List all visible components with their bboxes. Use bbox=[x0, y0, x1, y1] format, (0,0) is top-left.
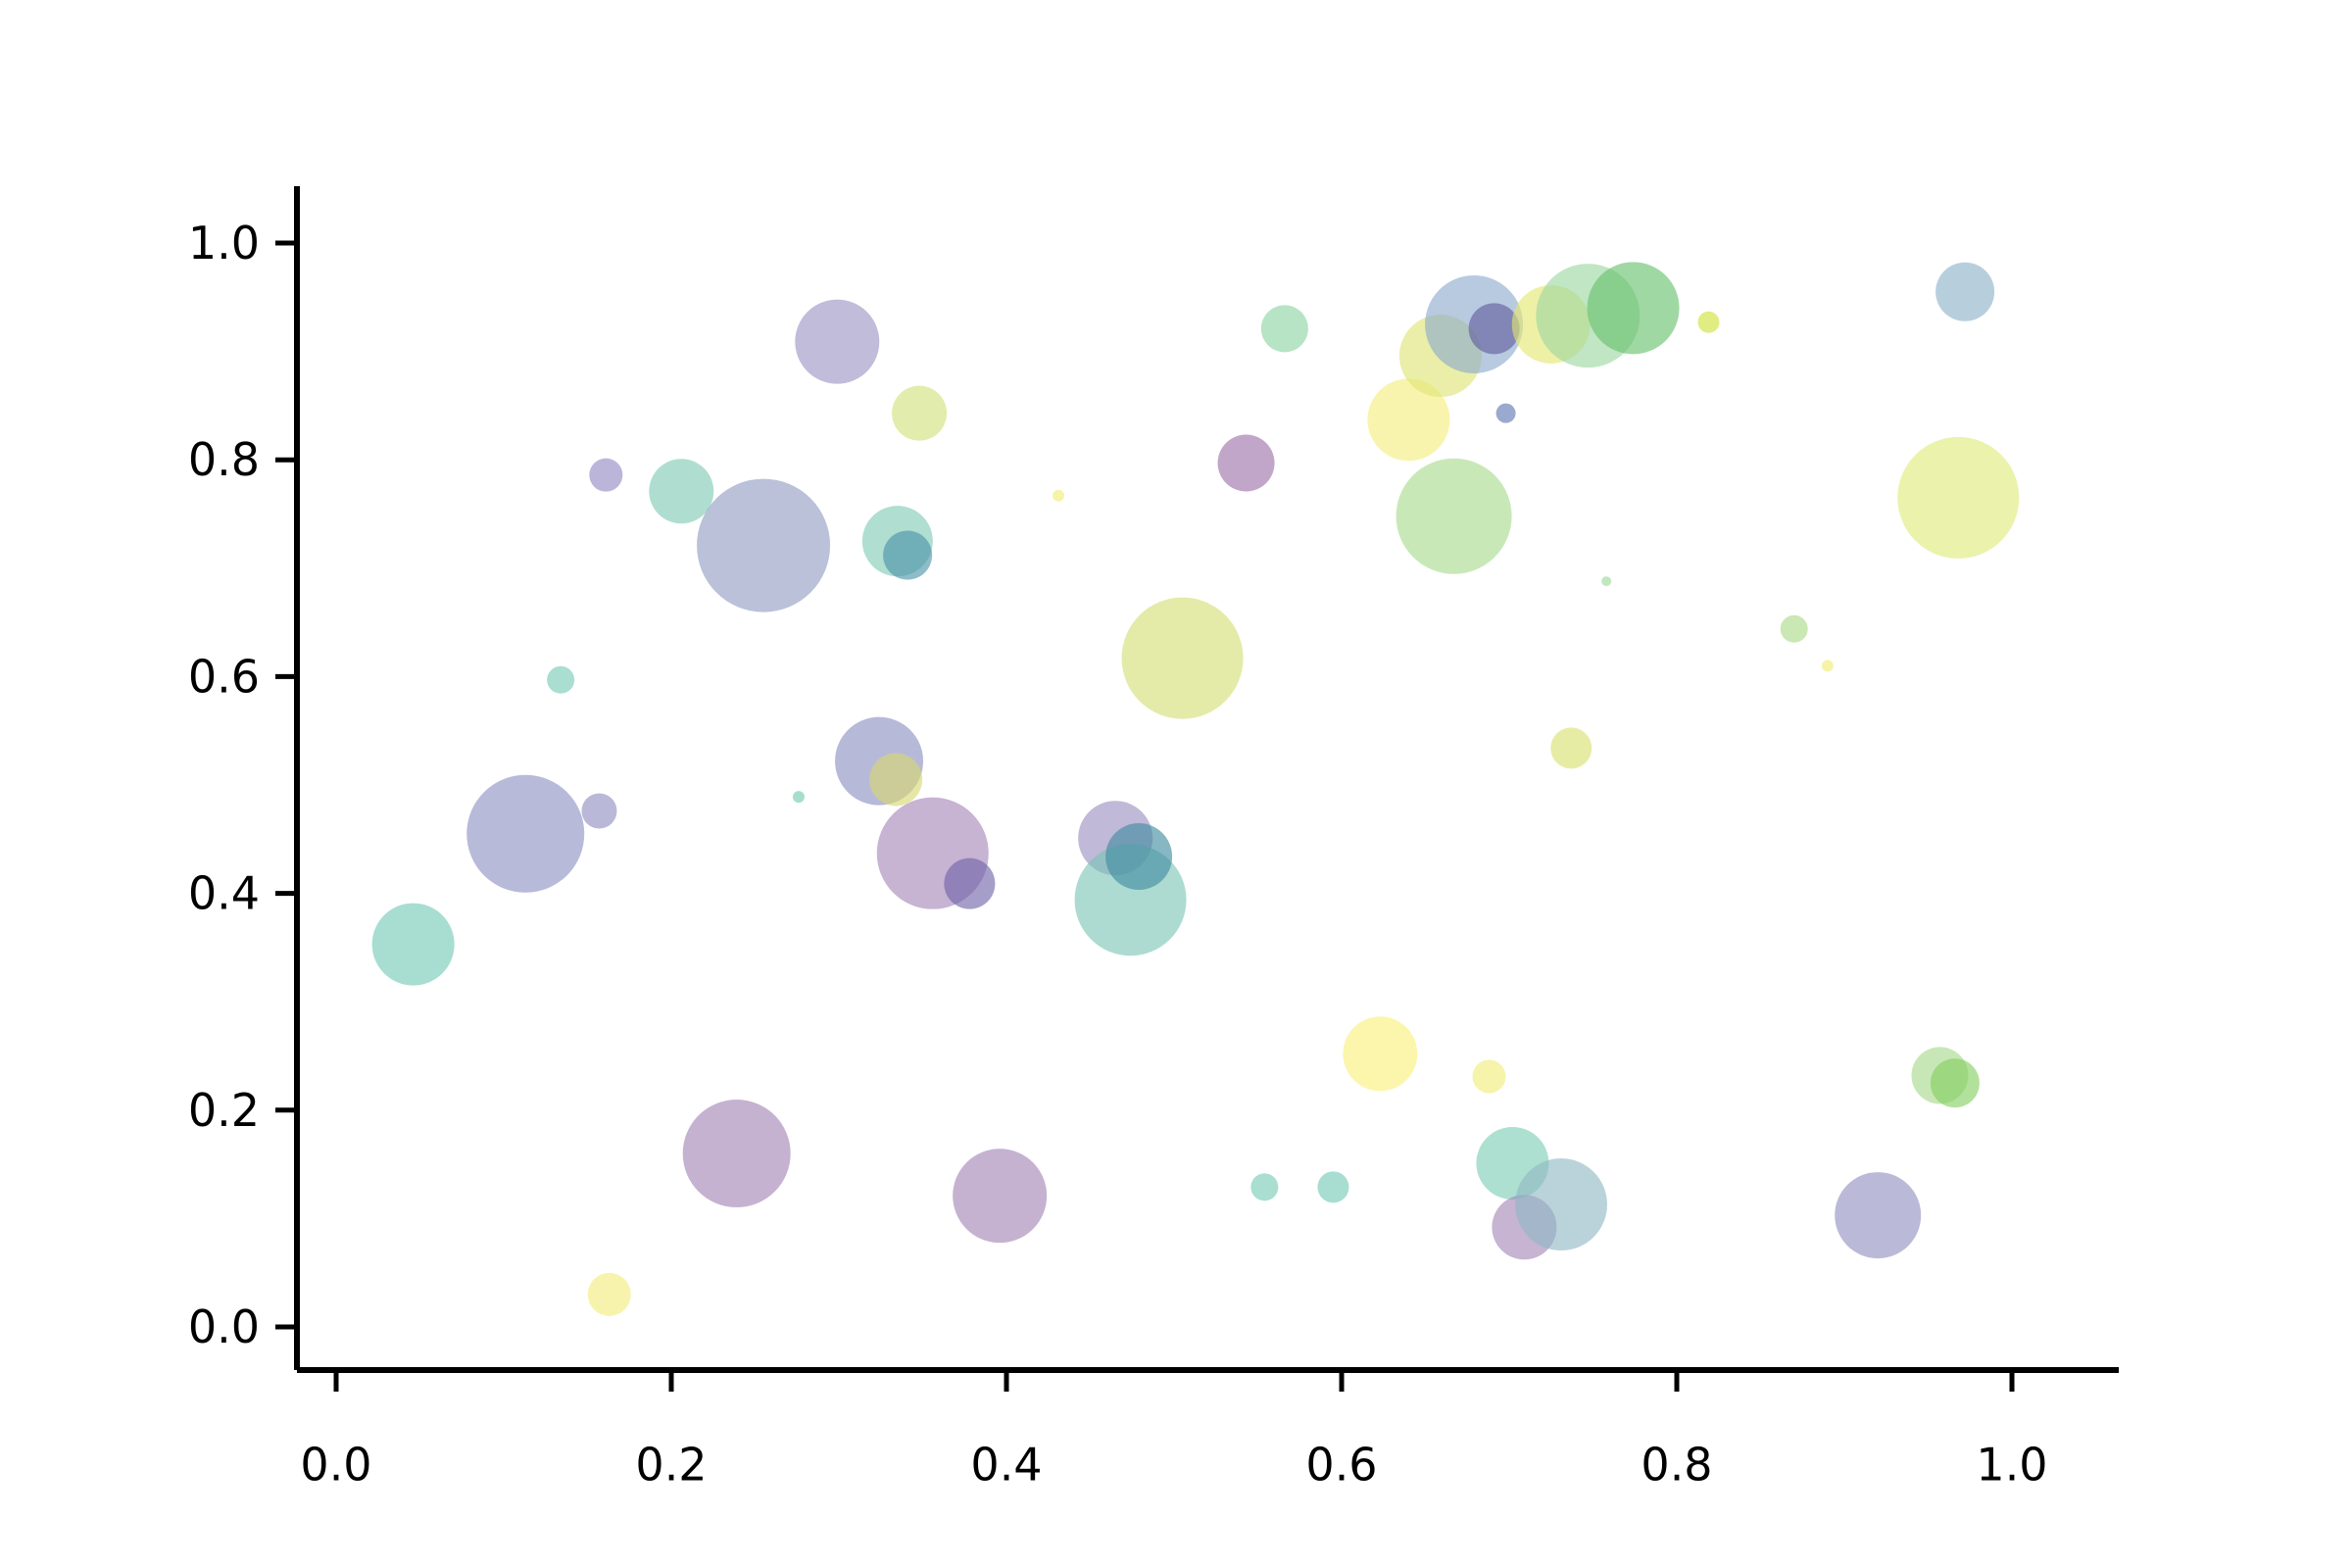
bubble-point bbox=[1469, 303, 1520, 354]
bubble-point bbox=[883, 531, 932, 580]
x-tick-label: 0.6 bbox=[1305, 1438, 1377, 1491]
x-tick-label: 0.4 bbox=[970, 1438, 1042, 1491]
bubble-point bbox=[1496, 404, 1516, 423]
scatter-plot: 0.00.20.40.60.81.00.00.20.40.60.81.0 bbox=[0, 0, 2352, 1568]
y-tick-label: 0.8 bbox=[188, 433, 260, 486]
x-tick-label: 0.0 bbox=[300, 1438, 371, 1491]
bubble-point bbox=[1105, 823, 1172, 890]
bubble-point bbox=[1122, 598, 1244, 719]
bubble-point bbox=[1550, 727, 1592, 768]
y-tick-label: 0.0 bbox=[188, 1300, 260, 1353]
bubble-point bbox=[953, 1149, 1047, 1243]
y-axis-ticks bbox=[275, 243, 297, 1327]
bubble-point bbox=[466, 775, 584, 893]
bubble-point bbox=[892, 386, 947, 441]
bubble-point bbox=[1317, 1171, 1348, 1202]
bubble-point bbox=[1588, 262, 1680, 354]
bubble-point bbox=[1472, 1060, 1505, 1094]
x-tick-label: 1.0 bbox=[1976, 1438, 2047, 1491]
bubble-point bbox=[1781, 615, 1808, 643]
bubble-point bbox=[1822, 660, 1834, 671]
y-tick-label: 1.0 bbox=[188, 217, 260, 269]
bubble-point bbox=[1515, 1158, 1607, 1250]
x-tick-label: 0.2 bbox=[635, 1438, 707, 1491]
bubble-point bbox=[1935, 263, 1994, 321]
bubble-point bbox=[372, 904, 455, 986]
bubble-point bbox=[581, 794, 616, 829]
bubble-point bbox=[1897, 437, 2019, 559]
bubble-point bbox=[1835, 1172, 1921, 1258]
bubble-point bbox=[697, 479, 830, 612]
bubble-point bbox=[1261, 305, 1308, 352]
figure-canvas: 0.00.20.40.60.81.00.00.20.40.60.81.0 bbox=[0, 0, 2352, 1568]
bubble-point bbox=[1053, 490, 1064, 502]
bubble-point bbox=[547, 666, 574, 694]
bubble-point bbox=[793, 791, 805, 803]
bubble-point bbox=[869, 753, 922, 806]
y-tick-label: 0.6 bbox=[188, 650, 260, 703]
bubble-point bbox=[1218, 435, 1275, 492]
bubble-point bbox=[795, 300, 879, 384]
bubble-point bbox=[1697, 312, 1719, 333]
bubble-point bbox=[1601, 576, 1611, 586]
bubble-point bbox=[1396, 459, 1512, 574]
y-tick-label: 0.4 bbox=[188, 867, 260, 920]
bubble-point bbox=[944, 858, 995, 909]
y-tick-label: 0.2 bbox=[188, 1084, 260, 1137]
bubble-point bbox=[589, 459, 622, 492]
bubble-point bbox=[683, 1100, 791, 1207]
bubbles-layer bbox=[372, 262, 2020, 1315]
bubble-point bbox=[588, 1273, 631, 1316]
bubble-point bbox=[1250, 1173, 1278, 1200]
x-tick-label: 0.8 bbox=[1641, 1438, 1712, 1491]
bubble-point bbox=[1343, 1016, 1417, 1091]
bubble-point bbox=[1931, 1058, 1980, 1107]
x-axis-ticks bbox=[336, 1370, 2012, 1392]
bubble-point bbox=[649, 459, 713, 523]
